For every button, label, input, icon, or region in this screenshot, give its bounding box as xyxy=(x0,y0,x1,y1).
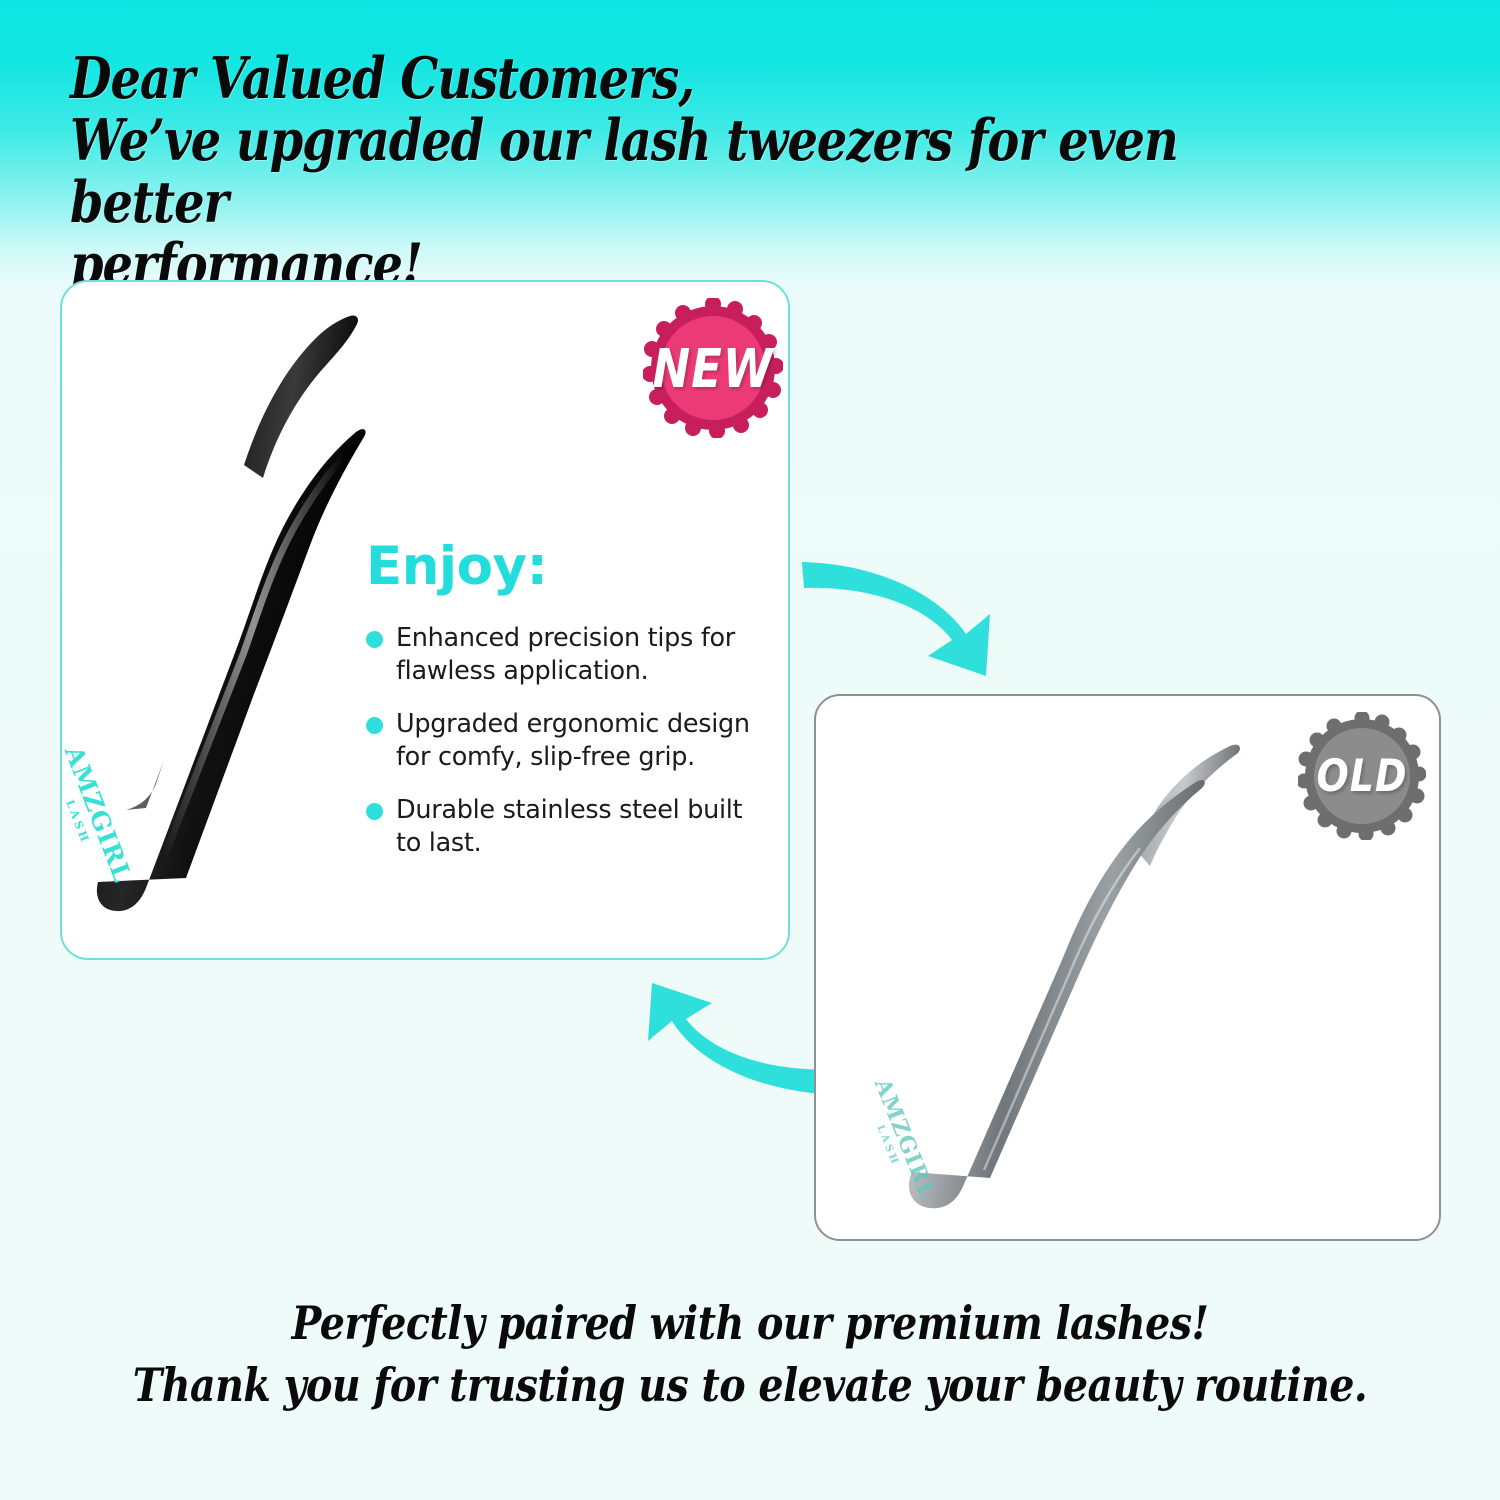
footer-message: Perfectly paired with our premium lashes… xyxy=(0,1292,1500,1416)
bullet-dot-icon xyxy=(366,803,383,820)
benefit-text: Upgraded ergonomic design for comfy, sli… xyxy=(396,708,766,774)
list-item: Enhanced precision tips for flawless app… xyxy=(366,622,766,688)
arrow-new-to-old-icon xyxy=(790,548,1020,683)
old-badge-label: OLD xyxy=(1316,750,1407,801)
new-badge-label: NEW xyxy=(652,337,773,400)
enjoy-heading: Enjoy: xyxy=(366,538,547,596)
benefits-list: Enhanced precision tips for flawless app… xyxy=(366,622,766,880)
page-title: Dear Valued Customers, We’ve upgraded ou… xyxy=(70,48,1229,296)
old-badge: OLD xyxy=(1298,712,1426,840)
bullet-dot-icon xyxy=(366,631,383,648)
new-badge: NEW xyxy=(643,298,783,438)
bullet-dot-icon xyxy=(366,717,383,734)
list-item: Durable stainless steel built to last. xyxy=(366,794,766,860)
benefit-text: Enhanced precision tips for flawless app… xyxy=(396,622,766,688)
footer-line-2: Thank you for trusting us to elevate you… xyxy=(105,1354,1395,1416)
list-item: Upgraded ergonomic design for comfy, sli… xyxy=(366,708,766,774)
promo-poster: Dear Valued Customers, We’ve upgraded ou… xyxy=(0,0,1500,1500)
benefit-text: Durable stainless steel built to last. xyxy=(396,794,766,860)
footer-line-1: Perfectly paired with our premium lashes… xyxy=(105,1292,1395,1354)
